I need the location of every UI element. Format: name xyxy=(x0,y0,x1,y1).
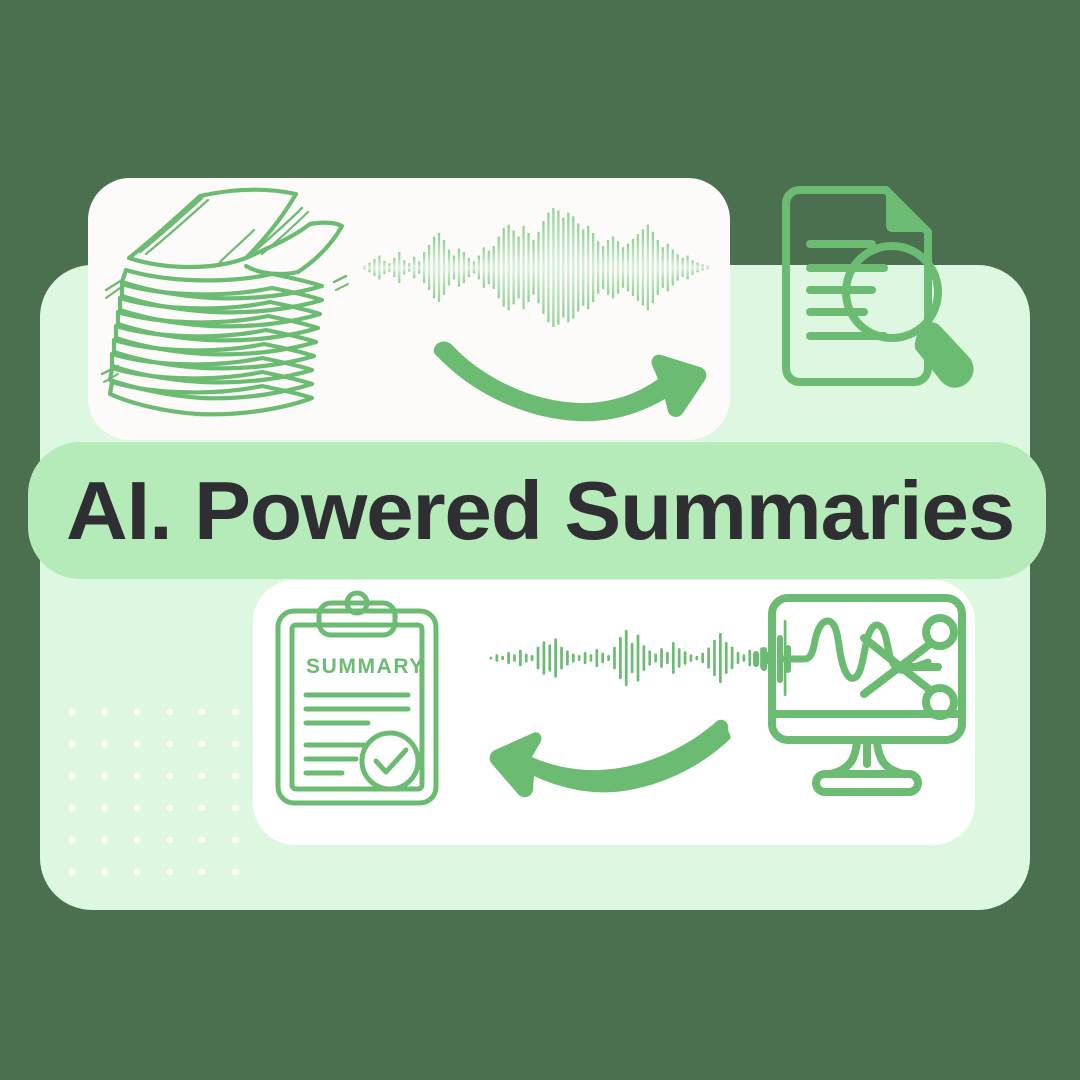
audio-waveform-icon xyxy=(362,205,710,330)
arrow-right-curved-icon xyxy=(424,325,716,425)
paper-stack-icon xyxy=(96,178,356,423)
title-banner: AI. Powered Summaries xyxy=(28,442,1046,579)
audio-waveform-bars-icon xyxy=(488,618,788,698)
summary-clipboard-icon: SUMMARY xyxy=(272,595,442,810)
poster-canvas: AI. Powered Summaries SUMMARY xyxy=(0,0,1080,1080)
page-title: AI. Powered Summaries xyxy=(66,469,1014,552)
audio-editing-monitor-icon xyxy=(758,588,976,803)
clipboard-heading: SUMMARY xyxy=(306,655,425,678)
arrow-left-curved-icon xyxy=(478,710,736,800)
dot-grid-pattern xyxy=(48,690,248,875)
document-search-icon xyxy=(768,180,1010,402)
